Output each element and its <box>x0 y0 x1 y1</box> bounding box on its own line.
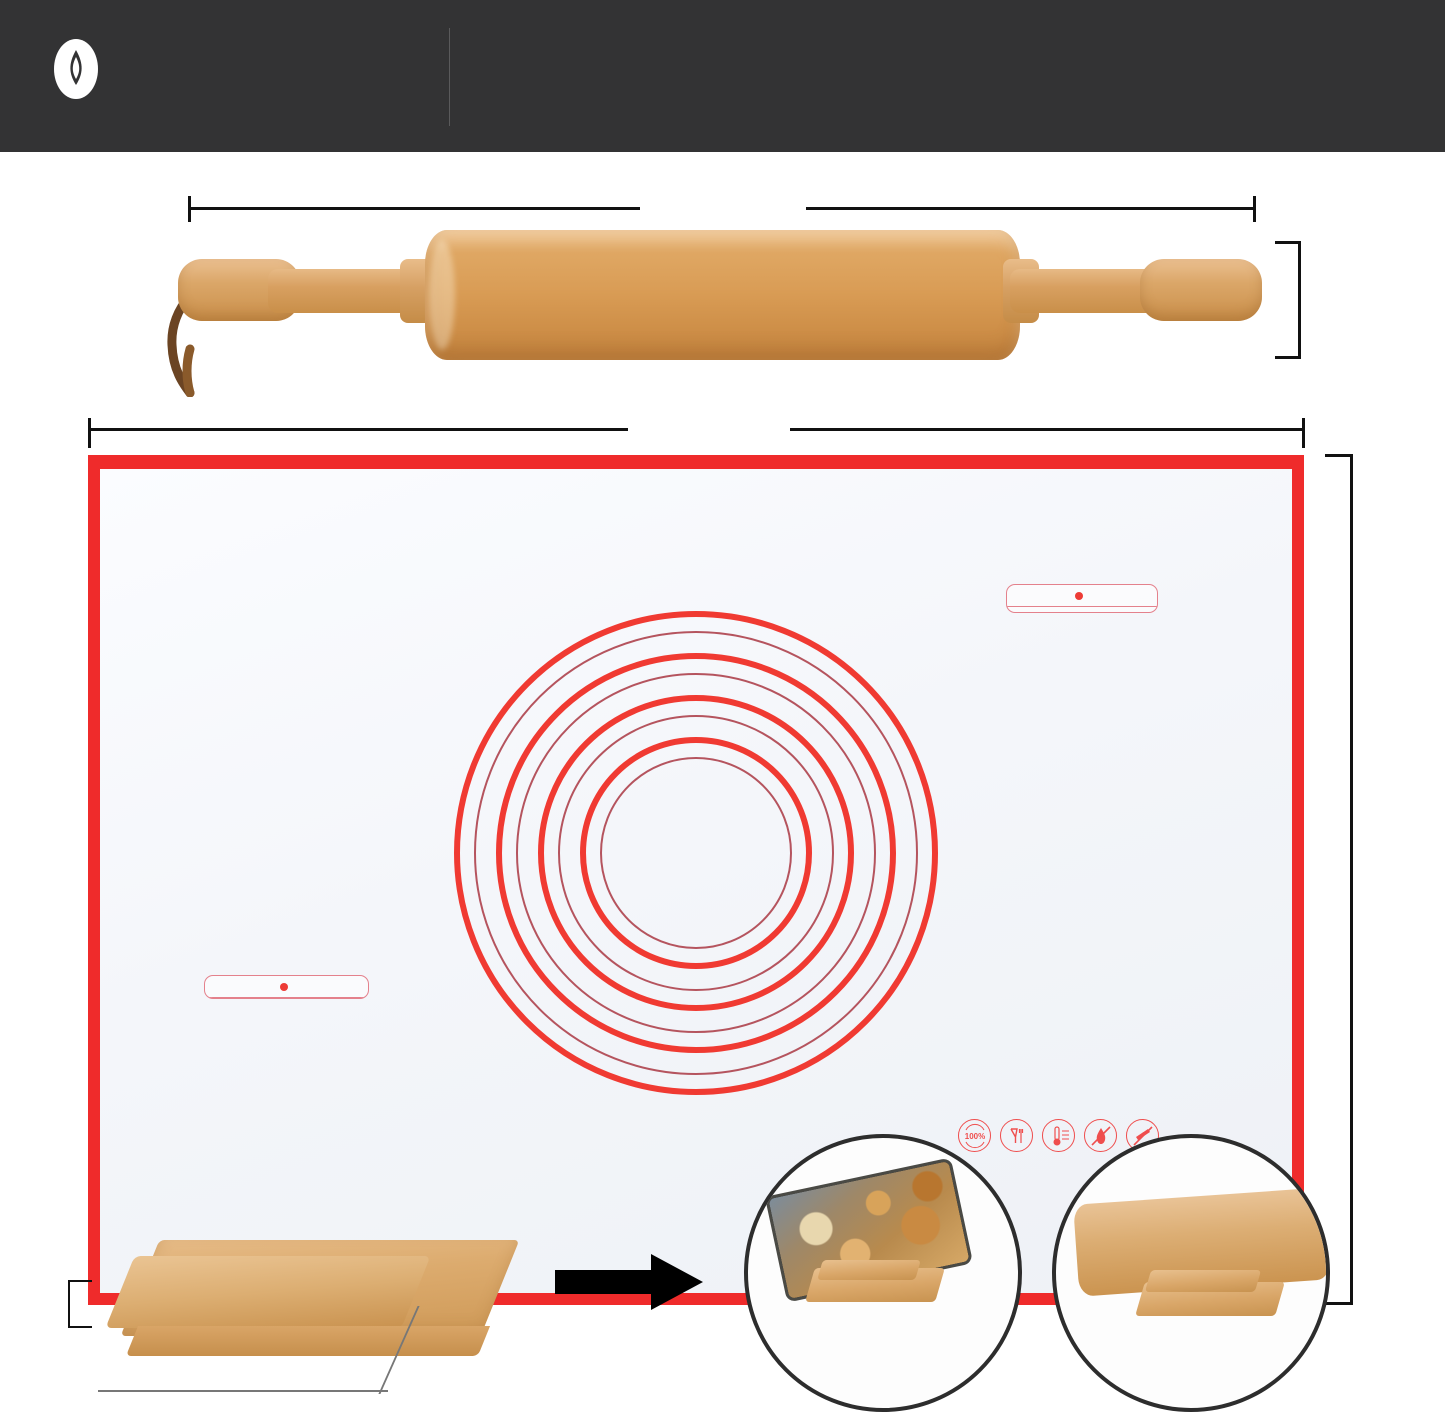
pin-barrel <box>425 230 1020 360</box>
dimension-cap-mat-left <box>88 418 91 448</box>
dimension-cap-mat-bottom <box>1325 1302 1353 1305</box>
rolling-pin-illustration <box>160 225 1280 385</box>
header-divider <box>449 28 450 126</box>
dimension-cap-stand-bottom <box>68 1326 92 1328</box>
svg-text:100%: 100% <box>964 1132 984 1141</box>
platinum-silicone-icon: 100% <box>958 1119 991 1152</box>
brand-logo <box>52 38 100 100</box>
measurements-table <box>204 975 369 999</box>
dimension-line-pin-left <box>188 207 640 210</box>
bullet-dot-icon <box>1075 592 1083 600</box>
dimension-cap-mat-right <box>1302 418 1305 448</box>
dimension-line-mat-right <box>790 428 1305 431</box>
temperature-table-title <box>1007 585 1157 607</box>
arrow-right-icon <box>555 1252 705 1312</box>
dimension-line-pin-vertical <box>1298 241 1301 359</box>
temperature-range-icon <box>1042 1119 1075 1152</box>
dimension-cap-mat-top <box>1325 454 1353 457</box>
dimension-cap-stand-top <box>68 1280 92 1282</box>
dimension-cap-pin-right <box>1253 196 1256 222</box>
temperature-col-c <box>1082 607 1157 612</box>
dimension-line-mat-vertical <box>1350 454 1353 1305</box>
certification-badges: 100% <box>958 1119 1159 1152</box>
dimension-cap-pin-left <box>188 196 191 222</box>
phone-on-stand-photo <box>744 1134 1022 1412</box>
dimension-line-stand-width <box>98 1390 388 1392</box>
temperature-table <box>1006 584 1158 613</box>
inset-stand-lip <box>1145 1270 1261 1292</box>
food-safe-glass-fork-icon <box>1000 1119 1033 1152</box>
pin-handle-right <box>1140 259 1262 321</box>
dimension-line-mat-left <box>88 428 628 431</box>
no-flame-icon <box>1084 1119 1117 1152</box>
wooden-stand-illustration <box>112 1240 542 1385</box>
dimension-line-stand-vertical <box>68 1280 70 1328</box>
bullet-dot-icon <box>280 983 288 991</box>
measurements-table-title <box>205 976 368 998</box>
stand-front-face <box>126 1326 490 1356</box>
stand-groove-lip <box>105 1256 430 1328</box>
temperature-col-f <box>1007 607 1082 612</box>
mat-circle-5in <box>600 757 792 949</box>
water-drop-icon <box>53 38 99 100</box>
rolling-pin-on-stand-photo <box>1052 1134 1330 1412</box>
header-bar <box>0 0 1445 152</box>
inset-stand-lip <box>817 1260 921 1280</box>
dimension-line-pin-right <box>806 207 1256 210</box>
